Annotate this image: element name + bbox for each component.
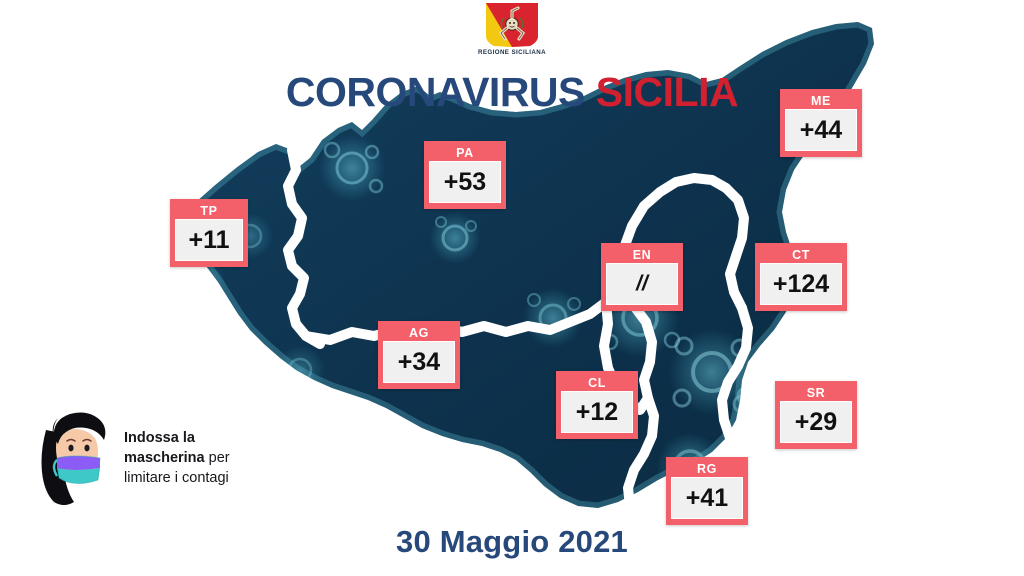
psa-line3: limitare i contagi [124,470,229,486]
province-code: CL [561,375,633,391]
province-code: ME [785,93,857,109]
province-badge-catania[interactable]: CT +124 [755,243,847,311]
province-value: +41 [671,477,743,519]
mask-psa-text: Indossa la mascherina per limitare i con… [124,428,292,488]
trinacria-icon [484,2,540,48]
province-code: PA [429,145,501,161]
province-code: RG [671,461,743,477]
mask-psa: Indossa la mascherina per limitare i con… [24,404,288,506]
province-value: +11 [175,219,243,261]
province-badge-messina[interactable]: ME +44 [780,89,862,157]
province-badge-ragusa[interactable]: RG +41 [666,457,748,525]
province-code: EN [606,247,678,263]
province-value: // [606,263,678,305]
emblem-caption: REGIONE SICILIANA [478,49,546,56]
infographic-canvas: REGIONE SICILIANA CORONAVIRUS SICILIA TP… [0,0,1024,576]
province-value: +12 [561,391,633,433]
woman-wearing-mask-icon [24,404,116,506]
province-badge-agrigento[interactable]: AG +34 [378,321,460,389]
province-value: +44 [785,109,857,151]
province-code: CT [760,247,842,263]
regione-siciliana-emblem: REGIONE SICILIANA [478,2,546,64]
province-badge-caltanissetta[interactable]: CL +12 [556,371,638,439]
province-value: +124 [760,263,842,305]
psa-line2-regular: per [205,450,230,466]
province-badge-trapani[interactable]: TP +11 [170,199,248,267]
title-word-coronavirus: CORONAVIRUS [286,69,585,115]
report-date: 30 Maggio 2021 [0,524,1024,560]
province-value: +29 [780,401,852,443]
psa-line2-bold: mascherina [124,450,205,466]
psa-line1: Indossa la [124,430,195,446]
page-title: CORONAVIRUS SICILIA [0,72,1024,113]
province-code: SR [780,385,852,401]
province-code: TP [175,203,243,219]
province-badge-siracusa[interactable]: SR +29 [775,381,857,449]
province-badge-enna[interactable]: EN // [601,243,683,311]
province-badge-palermo[interactable]: PA +53 [424,141,506,209]
title-word-sicilia: SICILIA [596,69,738,115]
province-value: +53 [429,161,501,203]
province-code: AG [383,325,455,341]
province-value: +34 [383,341,455,383]
